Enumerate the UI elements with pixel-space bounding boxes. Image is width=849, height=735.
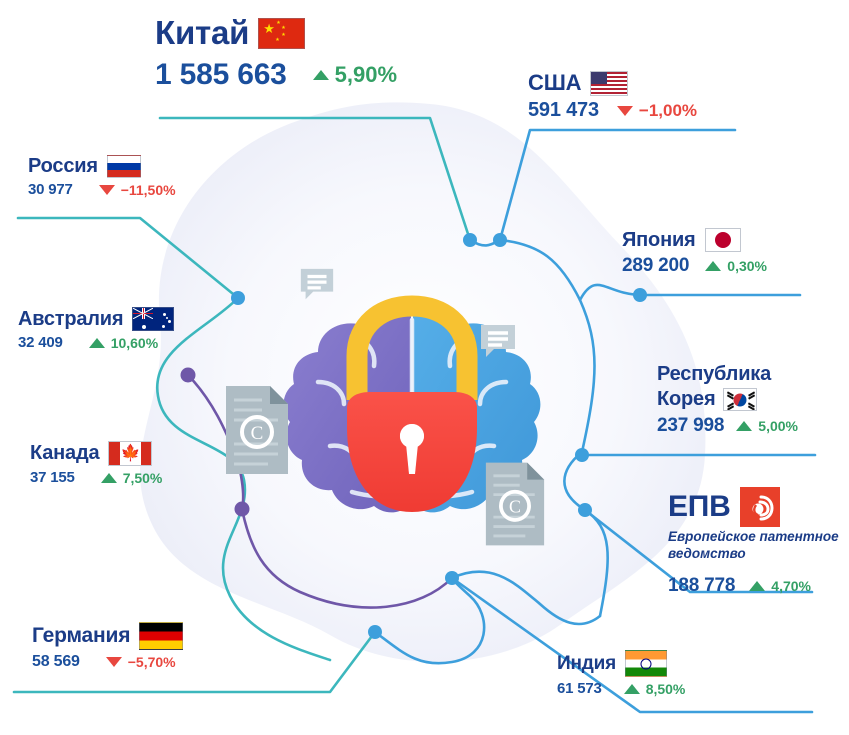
entry-australia-label: Австралия (18, 308, 123, 331)
trend-up-icon (624, 684, 640, 694)
trend-up-icon (89, 338, 105, 348)
flag-russia (107, 155, 141, 178)
entry-india[interactable]: Индия 61 573 8,50% (557, 650, 685, 697)
entry-epo-label: ЕПВ (668, 490, 731, 524)
trend-down-icon (106, 657, 122, 667)
node-china (463, 233, 477, 247)
entry-russia-delta-text: −11,50% (121, 182, 176, 198)
node-epo (578, 503, 592, 517)
entry-australia-delta: 10,60% (89, 335, 158, 351)
node-korea (575, 448, 589, 462)
entry-china-value: 1 585 663 (155, 58, 287, 92)
node-usa (493, 233, 507, 247)
flag-germany (139, 622, 183, 650)
entry-russia-delta: −11,50% (99, 182, 176, 198)
entry-epo-subtitle: Европейское патентное ведомство (668, 529, 843, 563)
node-canada (235, 502, 250, 517)
connector-china (160, 118, 470, 240)
background-blob (140, 102, 705, 661)
entry-japan-label: Япония (622, 229, 696, 252)
entry-usa-stats: 591 473 −1,00% (528, 99, 697, 122)
entry-japan-stats: 289 200 0,30% (622, 255, 767, 277)
padlock-keyhole (400, 424, 424, 472)
entry-japan-value: 289 200 (622, 255, 689, 277)
entry-australia-header: Австралия (18, 307, 174, 331)
entry-epo-header: ЕПВ (668, 487, 843, 527)
entry-korea-delta-text: 5,00% (758, 418, 798, 434)
node-germany (368, 625, 382, 639)
entry-china-delta: 5,90% (313, 62, 397, 88)
entry-china[interactable]: Китай ★ ★ ★ ★ ★ 1 585 663 5,90% (155, 14, 397, 92)
flag-japan (705, 228, 741, 252)
entry-germany-label: Германия (32, 624, 130, 648)
entry-japan-delta-text: 0,30% (727, 258, 767, 274)
entry-germany-delta: −5,70% (106, 654, 176, 670)
entry-germany-value: 58 569 (32, 653, 80, 671)
entry-usa[interactable]: США 591 473 −1,00% (528, 70, 697, 122)
entry-korea-delta: 5,00% (736, 418, 798, 434)
entry-usa-label: США (528, 70, 581, 96)
entry-usa-header: США (528, 70, 697, 96)
entry-usa-value: 591 473 (528, 99, 599, 122)
trend-down-icon (99, 185, 115, 195)
entry-india-header: Индия (557, 650, 685, 677)
node-australia (181, 368, 196, 383)
entry-korea-label-line1: Республика (657, 362, 837, 387)
chat-bubble-icon (478, 322, 518, 362)
connector-right-loop (564, 452, 607, 616)
entry-india-label: Индия (557, 653, 616, 675)
flag-china: ★ ★ ★ ★ ★ (258, 18, 305, 49)
infographic-canvas: C C Китай ★ ★ ★ ★ ★ (0, 0, 849, 735)
flag-south-korea (723, 388, 757, 411)
trend-up-icon (705, 261, 721, 271)
entry-usa-delta: −1,00% (617, 101, 697, 121)
connector-left-teal-spine (157, 298, 330, 660)
entry-korea[interactable]: Республика Корея 237 998 (657, 362, 837, 437)
entry-epo-value: 188 778 (668, 575, 735, 597)
flag-india (625, 650, 667, 677)
entry-russia[interactable]: Россия 30 977 −11,50% (28, 155, 176, 198)
entry-korea-stats: 237 998 5,00% (657, 415, 837, 437)
connector-purple-lower (242, 509, 452, 608)
connector-center-top (470, 240, 500, 245)
entry-india-delta: 8,50% (624, 681, 686, 697)
entry-germany-stats: 58 569 −5,70% (32, 653, 183, 671)
entry-russia-value: 30 977 (28, 181, 73, 198)
connector-bottom-spine-2 (452, 572, 600, 624)
node-japan (633, 288, 647, 302)
entry-australia-stats: 32 409 10,60% (18, 334, 174, 351)
entry-india-value: 61 573 (557, 680, 602, 697)
entry-canada[interactable]: Канада 🍁 37 155 7,50% (30, 441, 162, 486)
flag-canada: 🍁 (108, 441, 152, 466)
entry-canada-label: Канада (30, 442, 99, 465)
connector-bottom-spine (375, 578, 484, 663)
trend-up-icon (736, 421, 752, 431)
node-india (445, 571, 459, 585)
flag-usa (590, 71, 628, 96)
entry-epo-delta: 4,70% (749, 578, 811, 594)
entry-australia[interactable]: Австралия 32 409 10,60% (18, 307, 174, 351)
entry-korea-value: 237 998 (657, 415, 724, 437)
entry-canada-delta-text: 7,50% (123, 470, 163, 486)
entry-russia-label: Россия (28, 155, 98, 178)
entry-india-stats: 61 573 8,50% (557, 680, 685, 697)
entry-germany-header: Германия (32, 622, 183, 650)
entry-korea-header: Республика Корея (657, 362, 837, 412)
entry-canada-value: 37 155 (30, 469, 75, 486)
entry-canada-stats: 37 155 7,50% (30, 469, 162, 486)
connector-russia (18, 218, 238, 298)
connector-usa (500, 130, 735, 240)
chat-bubble-icon (298, 266, 336, 304)
entry-china-label: Китай (155, 14, 249, 52)
entry-canada-header: Канада 🍁 (30, 441, 162, 466)
entry-germany-delta-text: −5,70% (128, 654, 176, 670)
entry-china-stats: 1 585 663 5,90% (155, 58, 397, 92)
entry-india-delta-text: 8,50% (646, 681, 686, 697)
entry-china-delta-text: 5,90% (335, 62, 397, 88)
entry-japan[interactable]: Япония 289 200 0,30% (622, 228, 767, 277)
svg-text:C: C (251, 423, 264, 444)
copyright-document-icon: C (484, 460, 546, 548)
flag-australia (132, 307, 174, 331)
entry-epo[interactable]: ЕПВ Европейское патентное ведомство 188 … (668, 487, 843, 597)
entry-epo-delta-text: 4,70% (771, 578, 811, 594)
connector-japan (580, 285, 640, 300)
epo-logo (740, 487, 780, 527)
entry-japan-delta: 0,30% (705, 258, 767, 274)
epo-spiral-icon (740, 487, 780, 527)
trend-up-icon (101, 473, 117, 483)
trend-down-icon (617, 106, 633, 116)
node-russia (231, 291, 245, 305)
entry-usa-delta-text: −1,00% (639, 101, 697, 121)
entry-germany[interactable]: Германия 58 569 −5,70% (32, 622, 183, 671)
entry-australia-delta-text: 10,60% (111, 335, 158, 351)
padlock-shackle (357, 306, 467, 400)
trend-up-icon (313, 70, 329, 80)
trend-up-icon (749, 581, 765, 591)
padlock-body (347, 392, 477, 512)
svg-text:C: C (509, 496, 521, 516)
entry-korea-label-line2: Корея (657, 387, 715, 412)
entry-epo-stats: 188 778 4,70% (668, 575, 843, 597)
copyright-document-icon: C (224, 384, 290, 476)
entry-russia-stats: 30 977 −11,50% (28, 181, 176, 198)
entry-russia-header: Россия (28, 155, 176, 178)
entry-australia-value: 32 409 (18, 334, 63, 351)
entry-japan-header: Япония (622, 228, 767, 252)
entry-china-header: Китай ★ ★ ★ ★ ★ (155, 14, 397, 52)
entry-canada-delta: 7,50% (101, 470, 163, 486)
